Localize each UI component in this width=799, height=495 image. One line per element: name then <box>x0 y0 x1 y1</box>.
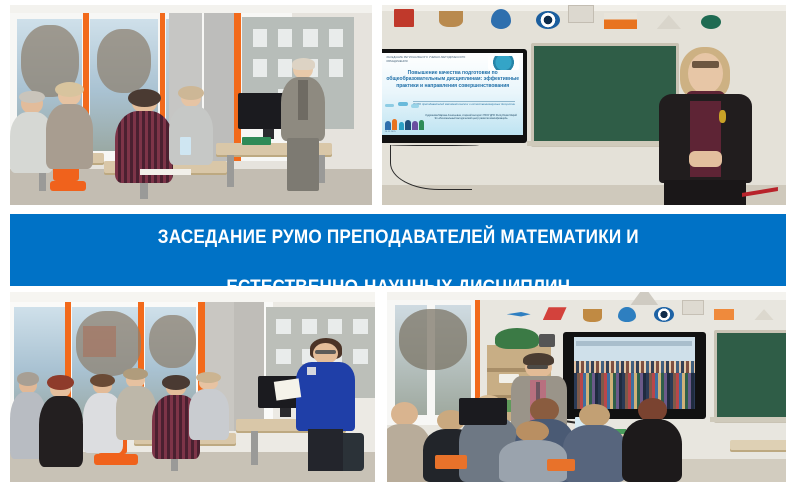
wall-vent <box>568 5 594 23</box>
slide-author: Кудряшова Марина Алексеевна, старший мет… <box>424 114 517 120</box>
slide-kicker: ЗАСЕДАНИЕ РЕГИОНАЛЬНОГО УЧЕБНО-МЕТОДИЧЕС… <box>386 56 486 62</box>
slide-illustration <box>383 102 431 130</box>
wall-decor-orange-square <box>714 309 734 320</box>
photo-bottom-left <box>10 292 375 482</box>
wall-decor-red <box>394 9 414 27</box>
photo-collage: ЗАСЕДАНИЕ РЕГИОНАЛЬНОГО УЧЕБНО-МЕТОДИЧЕС… <box>0 0 799 495</box>
interactive-panel: ЗАСЕДАНИЕ РЕГИОНАЛЬНОГО УЧЕБНО-МЕТОДИЧЕС… <box>382 49 527 143</box>
wall-decor-basket <box>583 309 603 322</box>
wall-vent <box>682 300 704 315</box>
photo-top-left <box>10 5 372 205</box>
presenter-blue-dress <box>295 338 357 471</box>
photo-bottom-right <box>387 292 786 482</box>
wall-decor-droplet <box>491 9 511 29</box>
title-banner: ЗАСЕДАНИЕ РУМО ПРЕПОДАВАТЕЛЕЙ МАТЕМАТИКИ… <box>10 214 786 286</box>
wall-decor-flag <box>604 13 636 29</box>
presenter-figure <box>657 47 754 205</box>
banner-line-1: ЗАСЕДАНИЕ РУМО ПРЕПОДАВАТЕЛЕЙ МАТЕМАТИКИ… <box>157 226 638 248</box>
slide-title: Повышение качества подготовки по общеобр… <box>385 70 521 89</box>
rmc-logo <box>488 56 519 70</box>
chalkboard <box>714 330 786 423</box>
wall-decor-eye <box>536 11 560 29</box>
presentation-slide: ЗАСЕДАНИЕ РЕГИОНАЛЬНОГО УЧЕБНО-МЕТОДИЧЕС… <box>382 53 523 135</box>
wall-decor-droplet <box>618 307 636 322</box>
banner-title: ЗАСЕДАНИЕ РУМО ПРЕПОДАВАТЕЛЕЙ МАТЕМАТИКИ… <box>157 200 638 300</box>
slide-date: 26.11.2025 <box>385 131 396 133</box>
photo-top-right: ЗАСЕДАНИЕ РЕГИОНАЛЬНОГО УЧЕБНО-МЕТОДИЧЕС… <box>382 5 786 205</box>
wall-decor-basket <box>439 11 463 27</box>
